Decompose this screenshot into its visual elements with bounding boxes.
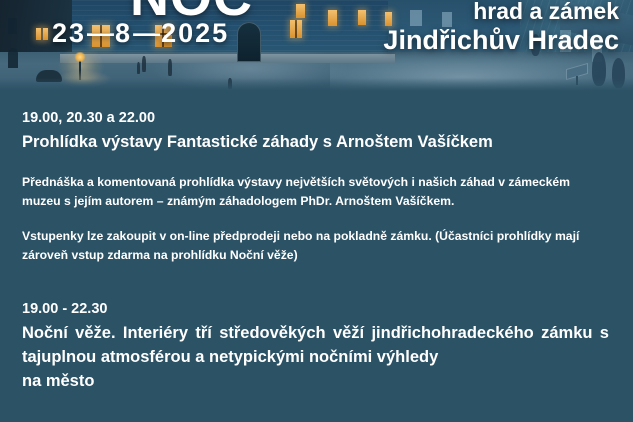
hero-date-day: 23 bbox=[52, 18, 86, 48]
section-paragraph: Přednáška a komentovaná prohlídka výstav… bbox=[22, 173, 611, 211]
hero-date-month: 8 bbox=[115, 18, 132, 48]
hero-event-date: 23—8—2025 bbox=[52, 18, 229, 49]
window-mullion bbox=[295, 20, 297, 38]
lit-window bbox=[358, 10, 366, 25]
section-paragraph: Vstupenky lze zakoupit v on-line předpro… bbox=[22, 227, 611, 265]
hero-venue-line-2: Jindřichův Hradec bbox=[383, 25, 619, 57]
section-time: 19.00, 20.30 a 22.00 bbox=[22, 108, 611, 130]
lit-window bbox=[43, 28, 48, 40]
hero-date-year: 2025 bbox=[161, 18, 229, 48]
dark-window bbox=[8, 48, 18, 68]
lit-window bbox=[328, 10, 337, 26]
lit-window bbox=[36, 28, 41, 40]
dark-window bbox=[8, 18, 17, 34]
poster-body: 19.00, 20.30 a 22.00 Prohlídka výstavy F… bbox=[0, 108, 633, 394]
section-heading: Noční věže. Interiéry tří středověkých v… bbox=[22, 322, 611, 394]
hero-venue: hrad a zámek Jindřichův Hradec bbox=[383, 0, 619, 57]
person-silhouette bbox=[168, 59, 172, 76]
hero-venue-line-1: hrad a zámek bbox=[383, 0, 619, 25]
lit-window bbox=[296, 4, 305, 18]
hero-night-scene-image: NOC 23—8—2025 hrad a zámek Jindřichův Hr… bbox=[0, 0, 633, 92]
section-night-towers: 19.00 - 22.30 Noční věže. Interiéry tří … bbox=[22, 299, 611, 394]
section-heading: Prohlídka výstavy Fantastické záhady s A… bbox=[22, 131, 611, 155]
section-exhibition-tour: 19.00, 20.30 a 22.00 Prohlídka výstavy F… bbox=[22, 108, 611, 265]
facade-stone-base bbox=[60, 54, 395, 63]
person-silhouette bbox=[142, 56, 146, 72]
hero-date-separator-2: — bbox=[133, 18, 160, 48]
event-poster: NOC 23—8—2025 hrad a zámek Jindřichův Hr… bbox=[0, 0, 633, 422]
hero-bottom-fade bbox=[0, 78, 633, 92]
street-lamp-light bbox=[74, 52, 86, 62]
section-time: 19.00 - 22.30 bbox=[22, 299, 611, 321]
section-heading-last-line: na město bbox=[22, 370, 609, 394]
hero-date-separator-1: — bbox=[87, 18, 114, 48]
section-heading-main: Noční věže. Interiéry tří středověkých v… bbox=[22, 324, 609, 366]
archway-doorway bbox=[237, 22, 261, 62]
person-silhouette bbox=[137, 62, 140, 74]
